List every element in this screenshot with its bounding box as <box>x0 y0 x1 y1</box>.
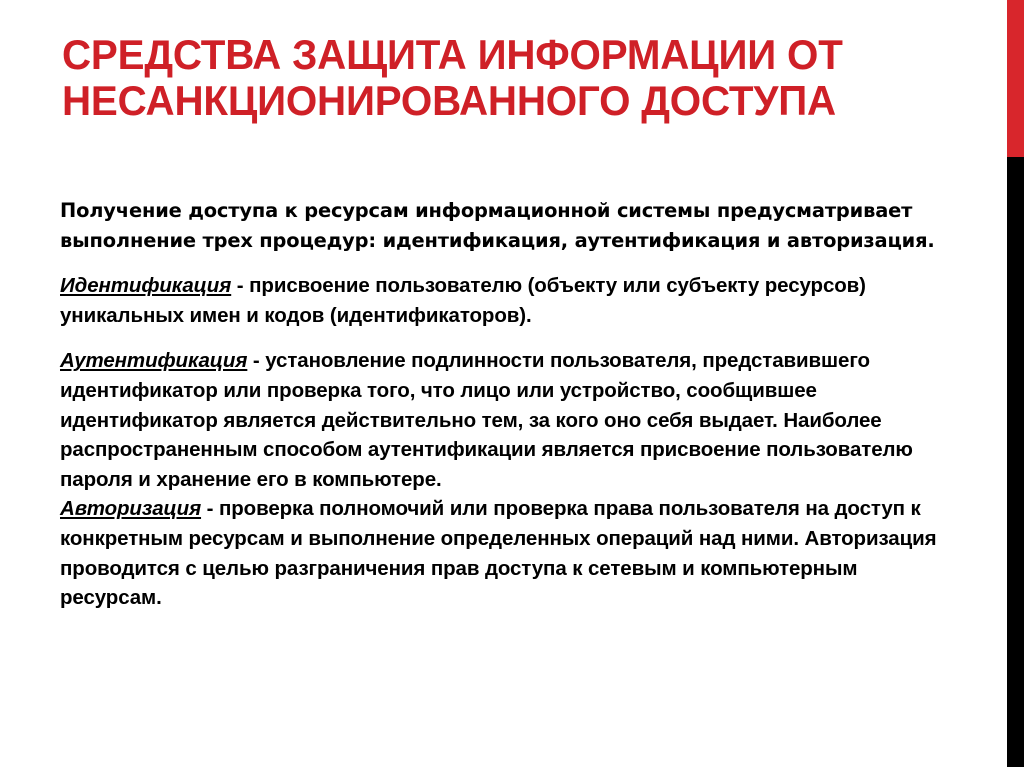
paragraph-authorization: Авторизация - проверка полномочий или пр… <box>60 494 940 612</box>
term-authentication: Аутентификация <box>60 349 247 372</box>
page-title: Средства защита информации от несанкцион… <box>62 32 931 124</box>
right-edge-red-bar <box>1007 0 1024 157</box>
body-content: Получение доступа к ресурсам информацион… <box>60 196 940 613</box>
paragraph-intro: Получение доступа к ресурсам информацион… <box>60 196 940 255</box>
slide-canvas: Средства защита информации от несанкцион… <box>0 0 1024 767</box>
term-identification: Идентификация <box>60 274 231 297</box>
paragraph-identification: Идентификация - присвоение пользователю … <box>60 271 940 330</box>
paragraph-authentication: Аутентификация - установление подлинност… <box>60 346 940 494</box>
right-edge-black-bar <box>1007 157 1024 767</box>
paragraph-intro-text: Получение доступа к ресурсам информацион… <box>60 199 935 252</box>
term-authorization: Авторизация <box>60 497 201 520</box>
